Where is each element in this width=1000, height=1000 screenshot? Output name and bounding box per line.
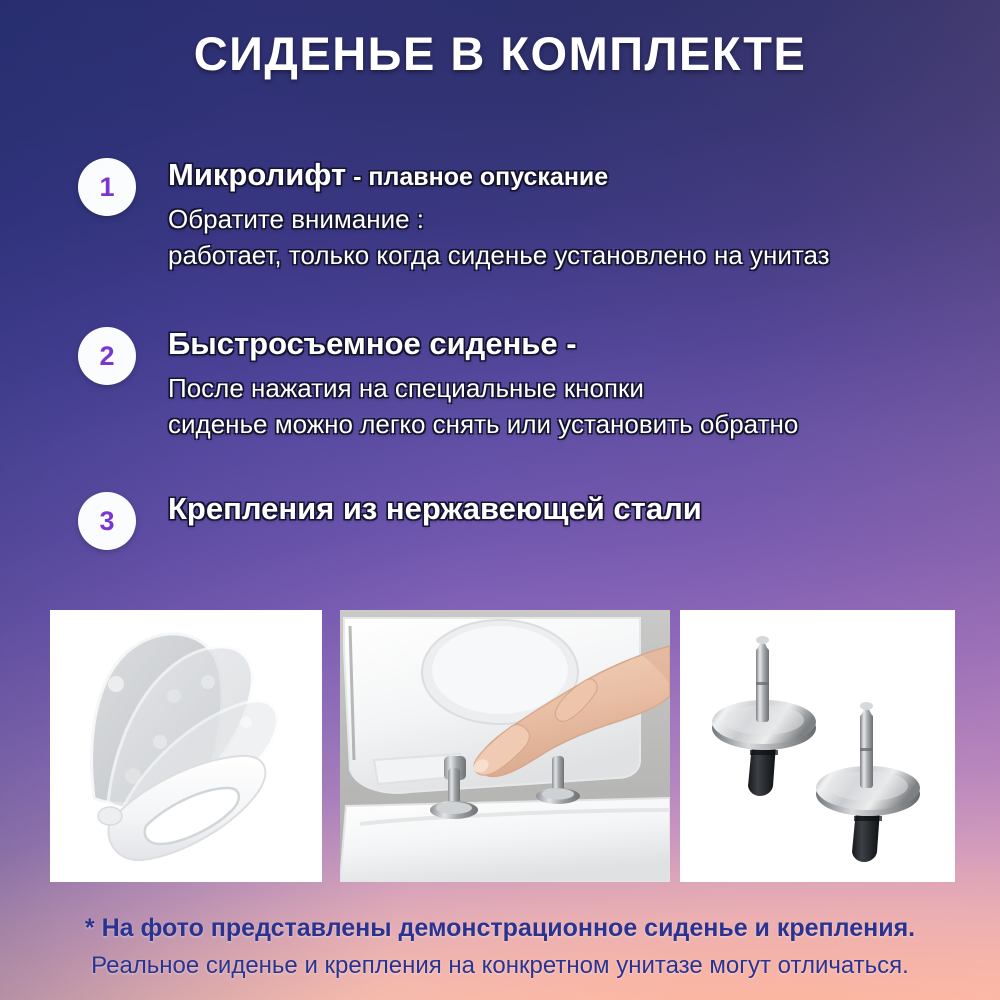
promo-poster: СИДЕНЬЕ В КОМПЛЕКТЕ 1 Микролифт - плавно… [0, 0, 1000, 1000]
photo-soft-close-seat [50, 610, 322, 882]
photo-quick-release [340, 610, 670, 882]
feature-heading-2: Быстросъемное сиденье - [168, 325, 998, 365]
steel-fixings-illustration [680, 610, 955, 882]
feature-heading-strong-3: Крепления из нержавеющей стали [168, 491, 702, 526]
feature-number-badge-2: 2 [78, 327, 136, 385]
feature-heading-strong-1: Микролифт [168, 157, 346, 192]
feature-number-badge-1: 1 [78, 158, 136, 216]
feature-number-badge-3: 3 [78, 492, 136, 550]
feature-text-block-1: Микролифт - плавное опускание Обратите в… [168, 156, 998, 273]
page-title: СИДЕНЬЕ В КОМПЛЕКТЕ [0, 26, 1000, 81]
feature-heading-1: Микролифт - плавное опускание [168, 156, 998, 196]
soft-close-seat-illustration [50, 610, 322, 882]
footer-disclaimer-line-2: Реальное сиденье и крепления на конкретн… [0, 952, 1000, 980]
photo-steel-fixings [680, 610, 955, 882]
quick-release-illustration [340, 610, 670, 882]
feature-body-line-2-2: сиденье можно легко снять или установить… [168, 406, 998, 442]
feature-body-line-1-1: Обратите внимание : [168, 201, 998, 237]
feature-text-block-3: Крепления из нержавеющей стали [168, 490, 998, 535]
feature-text-block-2: Быстросъемное сиденье - После нажатия на… [168, 325, 998, 442]
footer-disclaimer-line-1: * На фото представлены демонстрационное … [0, 914, 1000, 943]
feature-heading-rest-1: - плавное опускание [346, 163, 608, 191]
feature-heading-strong-2: Быстросъемное сиденье - [168, 326, 577, 361]
feature-heading-3: Крепления из нержавеющей стали [168, 490, 998, 530]
feature-body-line-2-1: После нажатия на специальные кнопки [168, 370, 998, 406]
feature-body-line-1-2: работает, только когда сиденье установле… [168, 237, 998, 273]
